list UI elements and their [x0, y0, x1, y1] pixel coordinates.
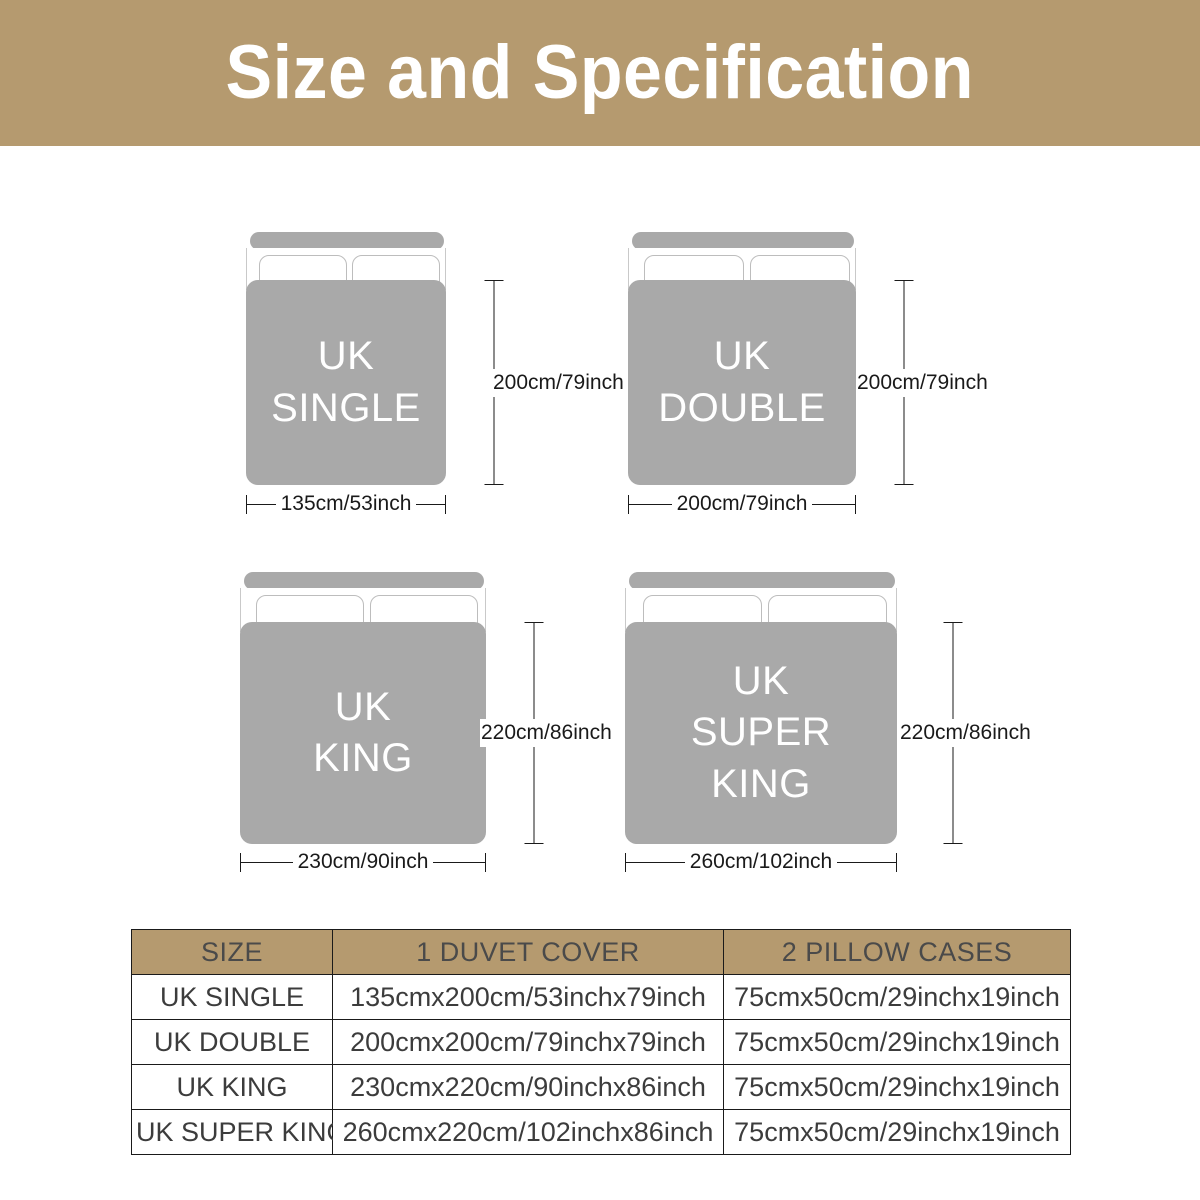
dimension-cap-right [896, 853, 897, 872]
column-header-size: SIZE [132, 930, 333, 975]
height-dimension-uk-double: 200cm/79inch [894, 280, 914, 485]
bed-figure-uk-super-king: UK SUPER KING 220cm/86inch 260cm/102inch [625, 572, 1045, 872]
cell-size: UK KING [132, 1065, 333, 1110]
width-dimension-uk-king: 230cm/90inch [240, 852, 486, 872]
dimension-cap-bottom [895, 484, 914, 485]
specification-table: SIZE 1 DUVET COVER 2 PILLOW CASES UK SIN… [131, 929, 1071, 1155]
cell-pillow-cases: 75cmx50cm/29inchx19inch [724, 975, 1071, 1020]
dimension-segment-right [837, 862, 896, 863]
cell-size: UK DOUBLE [132, 1020, 333, 1065]
dimension-cap-right [855, 495, 856, 514]
dimension-cap-bottom [525, 843, 544, 844]
bed-figure-uk-double: UK DOUBLE 200cm/79inch 200cm/79inch [628, 232, 988, 522]
bed-illustration: UK SUPER KING [625, 572, 897, 852]
column-header-pillow-cases: 2 PILLOW CASES [724, 930, 1071, 975]
cell-size: UK SINGLE [132, 975, 333, 1020]
bed-size-label: UK KING [313, 682, 413, 784]
height-dimension-label: 220cm/86inch [899, 719, 1032, 747]
dimension-cap-top [485, 280, 504, 281]
header-banner: Size and Specification [0, 0, 1200, 146]
cell-duvet-cover: 200cmx200cm/79inchx79inch [333, 1020, 724, 1065]
height-dimension-uk-super-king: 220cm/86inch [943, 622, 963, 844]
bed-illustration: UK KING [240, 572, 486, 852]
page-title: Size and Specification [226, 35, 974, 111]
dimension-cap-top [525, 622, 544, 623]
bed-figure-uk-single: UK SINGLE 200cm/79inch 135cm/53inch [246, 232, 576, 522]
table-row: UK SUPER KING 260cmx220cm/102inchx86inch… [132, 1110, 1071, 1155]
dimension-segment-left [626, 862, 685, 863]
dimension-cap-right [485, 853, 486, 872]
width-dimension-label: 200cm/79inch [672, 492, 813, 516]
cell-pillow-cases: 75cmx50cm/29inchx19inch [724, 1020, 1071, 1065]
dimension-cap-bottom [485, 484, 504, 485]
height-dimension-uk-king: 220cm/86inch [524, 622, 544, 844]
dimension-segment-left [247, 504, 276, 505]
dimension-segment-right [812, 504, 855, 505]
duvet-body: UK DOUBLE [628, 280, 856, 485]
dimension-segment-left [629, 504, 672, 505]
dimension-segment-right [433, 862, 485, 863]
cell-pillow-cases: 75cmx50cm/29inchx19inch [724, 1110, 1071, 1155]
duvet-body: UK SINGLE [246, 280, 446, 485]
table-row: UK KING 230cmx220cm/90inchx86inch 75cmx5… [132, 1065, 1071, 1110]
width-dimension-label: 260cm/102inch [685, 850, 837, 874]
width-dimension-uk-double: 200cm/79inch [628, 494, 856, 514]
dimension-segment-right [416, 504, 445, 505]
table-header-row: SIZE 1 DUVET COVER 2 PILLOW CASES [132, 930, 1071, 975]
cell-pillow-cases: 75cmx50cm/29inchx19inch [724, 1065, 1071, 1110]
bed-illustration: UK SINGLE [246, 232, 446, 492]
width-dimension-label: 230cm/90inch [293, 850, 434, 874]
height-dimension-label: 200cm/79inch [856, 369, 989, 397]
width-dimension-uk-super-king: 260cm/102inch [625, 852, 897, 872]
height-dimension-label: 200cm/79inch [492, 369, 625, 397]
duvet-body: UK KING [240, 622, 486, 844]
duvet-body: UK SUPER KING [625, 622, 897, 844]
bed-size-label: UK SUPER KING [691, 656, 831, 810]
width-dimension-label: 135cm/53inch [276, 492, 417, 516]
table-row: UK DOUBLE 200cmx200cm/79inchx79inch 75cm… [132, 1020, 1071, 1065]
cell-duvet-cover: 135cmx200cm/53inchx79inch [333, 975, 724, 1020]
dimension-cap-bottom [944, 843, 963, 844]
size-spec-infographic: Size and Specification UK SINGLE 200cm/7… [0, 0, 1200, 1200]
cell-duvet-cover: 260cmx220cm/102inchx86inch [333, 1110, 724, 1155]
column-header-duvet-cover: 1 DUVET COVER [333, 930, 724, 975]
bed-size-label: UK SINGLE [271, 331, 421, 433]
table-row: UK SINGLE 135cmx200cm/53inchx79inch 75cm… [132, 975, 1071, 1020]
dimension-segment-left [241, 862, 293, 863]
width-dimension-uk-single: 135cm/53inch [246, 494, 446, 514]
bed-figure-uk-king: UK KING 220cm/86inch 230cm/90inch [240, 572, 610, 872]
dimension-cap-top [944, 622, 963, 623]
cell-duvet-cover: 230cmx220cm/90inchx86inch [333, 1065, 724, 1110]
dimension-cap-right [445, 495, 446, 514]
dimension-cap-top [895, 280, 914, 281]
bed-illustration: UK DOUBLE [628, 232, 856, 492]
height-dimension-label: 220cm/86inch [480, 719, 613, 747]
cell-size: UK SUPER KING [132, 1110, 333, 1155]
bed-size-label: UK DOUBLE [658, 331, 826, 433]
height-dimension-uk-single: 200cm/79inch [484, 280, 504, 485]
